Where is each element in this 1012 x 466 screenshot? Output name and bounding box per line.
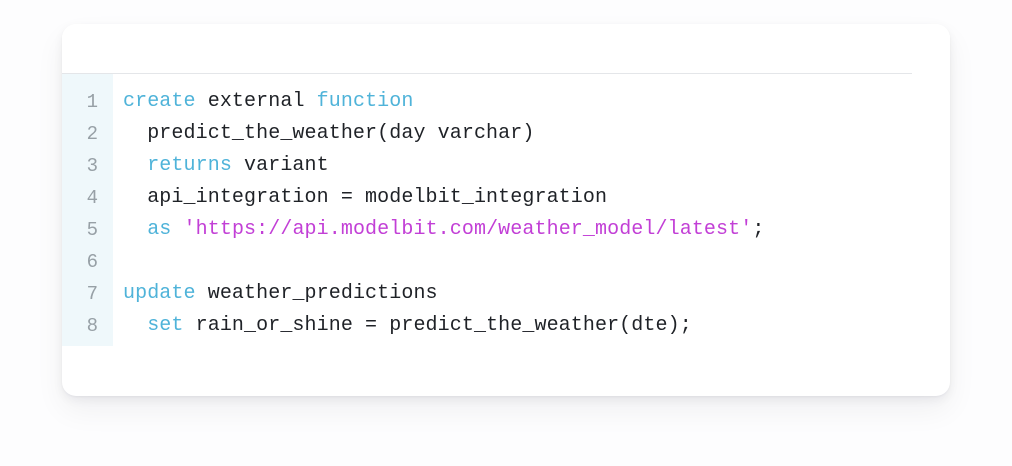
line-number: 1 [62, 86, 113, 118]
code-token-text: predict_the_weather(day varchar) [123, 122, 534, 145]
code-token-text: external [196, 90, 317, 113]
code-line[interactable]: set rain_or_shine = predict_the_weather(… [123, 310, 950, 342]
code-token-text: rain_or_shine = predict_the_weather(dte)… [184, 314, 692, 337]
line-number: 7 [62, 278, 113, 310]
code-line[interactable]: api_integration = modelbit_integration [123, 182, 950, 214]
code-token-text: weather_predictions [196, 282, 438, 305]
code-token-keyword: create [123, 90, 196, 113]
code-token-keyword: set [123, 314, 184, 337]
line-number: 2 [62, 118, 113, 150]
code-token-text [171, 218, 183, 241]
line-number-gutter: 12345678 [62, 74, 113, 346]
code-line[interactable] [123, 246, 950, 278]
code-token-text: ; [752, 218, 764, 241]
code-line[interactable]: predict_the_weather(day varchar) [123, 118, 950, 150]
code-token-keyword: function [317, 90, 414, 113]
line-number: 8 [62, 310, 113, 342]
code-token-string: 'https://api.modelbit.com/weather_model/… [184, 218, 753, 241]
code-token-text: variant [232, 154, 329, 177]
code-line[interactable]: returns variant [123, 150, 950, 182]
line-number: 3 [62, 150, 113, 182]
line-number: 4 [62, 182, 113, 214]
code-editor[interactable]: 12345678 create external function predic… [62, 74, 950, 346]
code-content-area[interactable]: create external function predict_the_wea… [113, 74, 950, 342]
card-header [62, 24, 950, 73]
sql-code-snippet-card: 12345678 create external function predic… [62, 24, 950, 396]
code-token-text: api_integration = modelbit_integration [123, 186, 607, 209]
code-token-keyword: as [123, 218, 171, 241]
code-line[interactable]: create external function [123, 86, 950, 118]
code-token-keyword: update [123, 282, 196, 305]
line-number: 6 [62, 246, 113, 278]
code-token-keyword: returns [123, 154, 232, 177]
code-line[interactable]: update weather_predictions [123, 278, 950, 310]
code-line[interactable]: as 'https://api.modelbit.com/weather_mod… [123, 214, 950, 246]
page-root: 12345678 create external function predic… [0, 0, 1012, 466]
line-number: 5 [62, 214, 113, 246]
